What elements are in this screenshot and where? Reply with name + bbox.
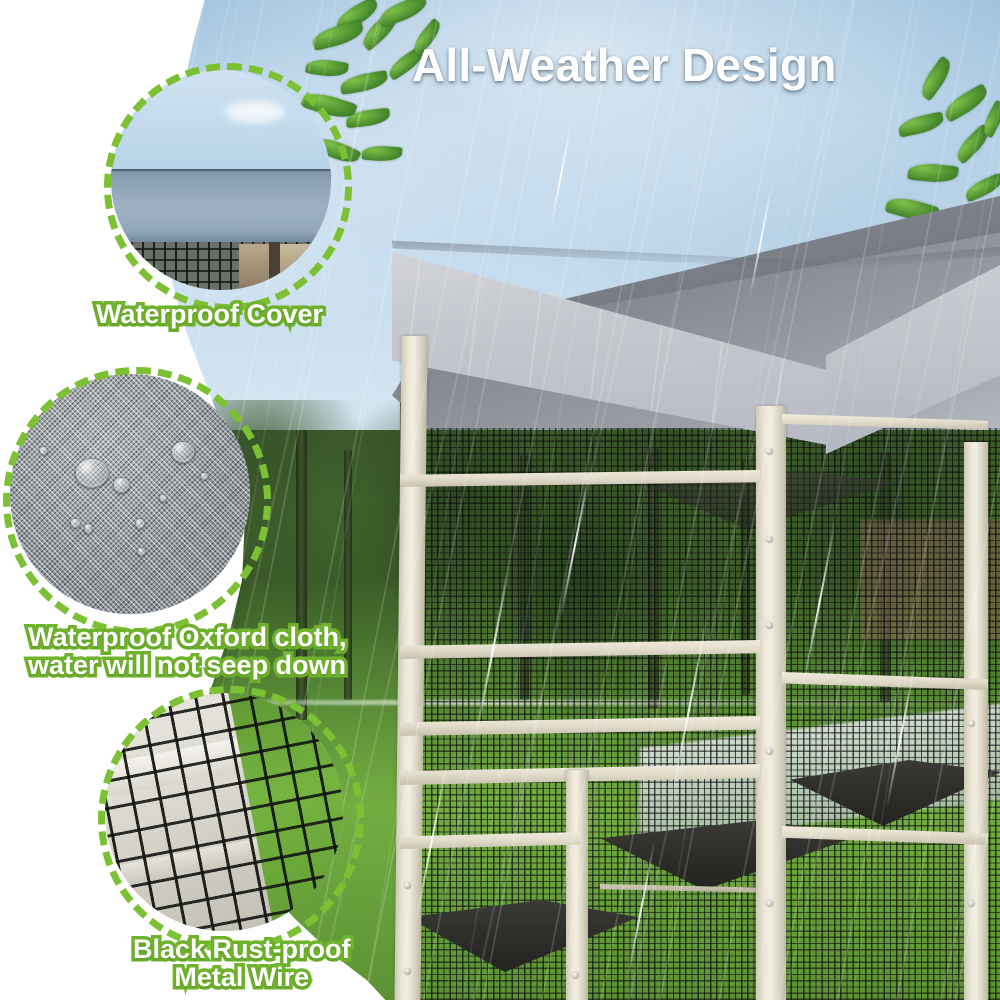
callout-caption-oxford-cloth: Waterproof Oxford cloth, water will not … [28,624,347,679]
callout-caption-metal-wire: Black Rust-proof Metal Wire [133,936,351,991]
page-title: All-Weather Design [412,38,837,92]
callout-ring-waterproof-cover [104,63,352,311]
callout-ring-metal-wire [98,686,364,952]
callout-ring-oxford-cloth [3,367,271,635]
infographic-canvas: Waterproof Cover Waterproof Oxford cloth… [0,0,1000,1000]
callout-caption-waterproof-cover: Waterproof Cover [96,301,323,329]
